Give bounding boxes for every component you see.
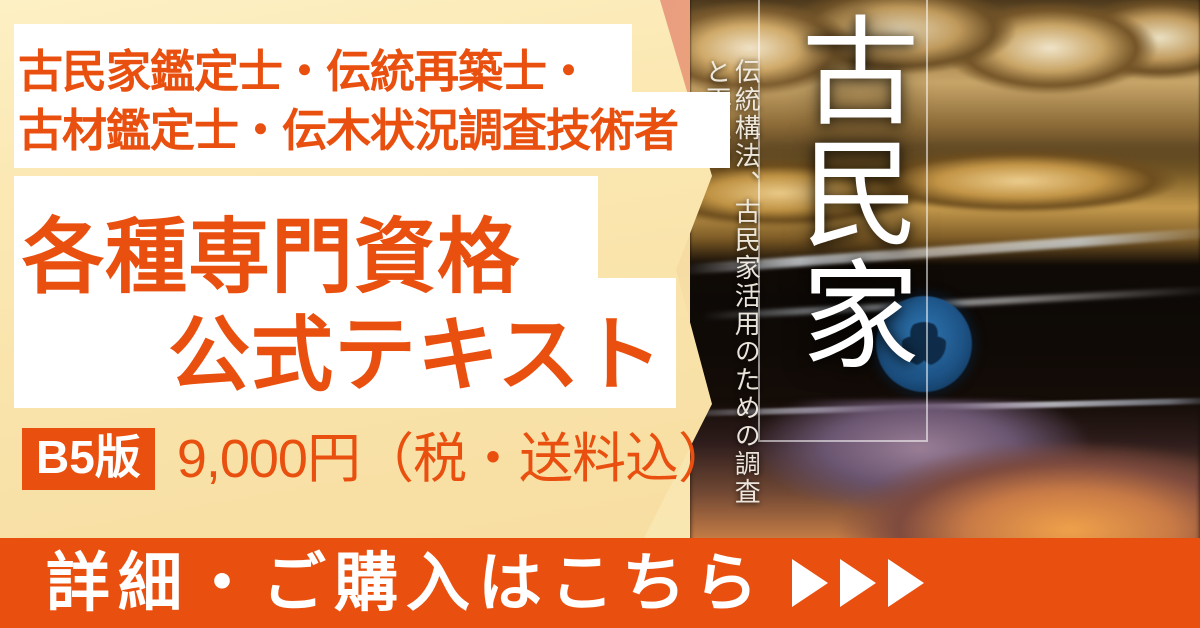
format-badge: B5版 <box>22 428 155 490</box>
price-amount: 9,000円（税・送料込） <box>177 432 731 486</box>
headline-line-2: 公式テキスト <box>168 288 664 407</box>
cta-bar[interactable]: 詳細・ご購入はこちら <box>0 538 1200 628</box>
triangle-right-icon <box>792 559 828 607</box>
triangle-right-icon <box>888 559 924 607</box>
cover-title-text: 古民家 <box>768 10 918 376</box>
cta-arrows <box>792 559 924 607</box>
cta-label: 詳細・ご購入はこちら <box>46 551 766 615</box>
promo-banner: 古民家 伝統構法、古民家活用のための調査と再生の 古民家鑑定士・伝統再築士・ 古… <box>0 0 1200 628</box>
triangle-right-icon <box>840 559 876 607</box>
book-cover-image: 古民家 伝統構法、古民家活用のための調査と再生の <box>690 0 1200 546</box>
price-row: B5版 9,000円（税・送料込） <box>22 428 731 490</box>
qualifications-line-1: 古民家鑑定士・伝統再築士・ <box>18 35 590 100</box>
qualifications-line-2: 古材鑑定士・伝木状況調査技術者 <box>18 94 678 159</box>
